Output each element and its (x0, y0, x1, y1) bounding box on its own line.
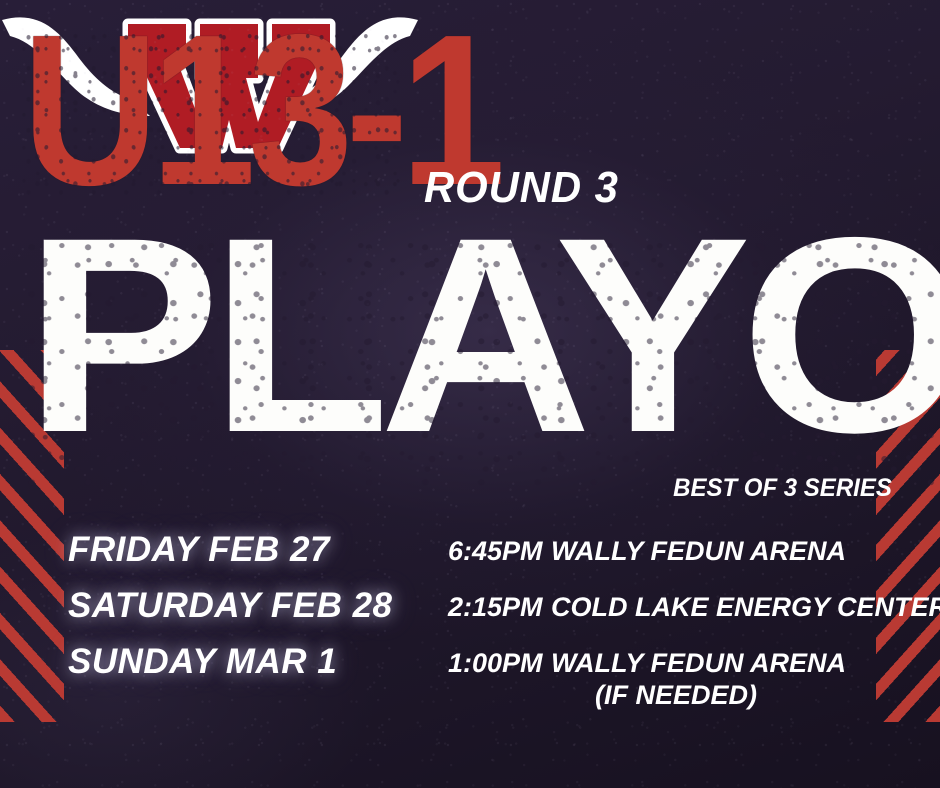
schedule-row: SATURDAY FEB 28 2:15PM COLD LAKE ENERGY … (0, 586, 940, 642)
playoffs-headline: PLAYOFFS (24, 196, 940, 474)
game-schedule: FRIDAY FEB 27 6:45PM WALLY FEDUN ARENA S… (0, 530, 940, 698)
series-format-label: BEST OF 3 SERIES (673, 476, 892, 501)
game-date: SATURDAY FEB 28 (68, 586, 393, 626)
game-venue: WALLY FEDUN ARENA (551, 646, 846, 680)
game-note: (IF NEEDED) (595, 678, 757, 712)
schedule-row: SUNDAY MAR 1 1:00PM WALLY FEDUN ARENA (I… (0, 642, 940, 698)
game-venue: WALLY FEDUN ARENA (551, 534, 846, 568)
playoff-poster: U13-1 ROUND 3 PLAYOFFS BEST OF 3 SERIES … (0, 0, 940, 788)
game-time: 1:00PM (448, 646, 543, 680)
game-date: SUNDAY MAR 1 (68, 642, 337, 682)
game-time: 2:15PM (448, 590, 543, 624)
schedule-row: FRIDAY FEB 27 6:45PM WALLY FEDUN ARENA (0, 530, 940, 586)
game-time: 6:45PM (448, 534, 543, 568)
game-venue: COLD LAKE ENERGY CENTER (551, 590, 940, 624)
game-date: FRIDAY FEB 27 (68, 530, 330, 570)
